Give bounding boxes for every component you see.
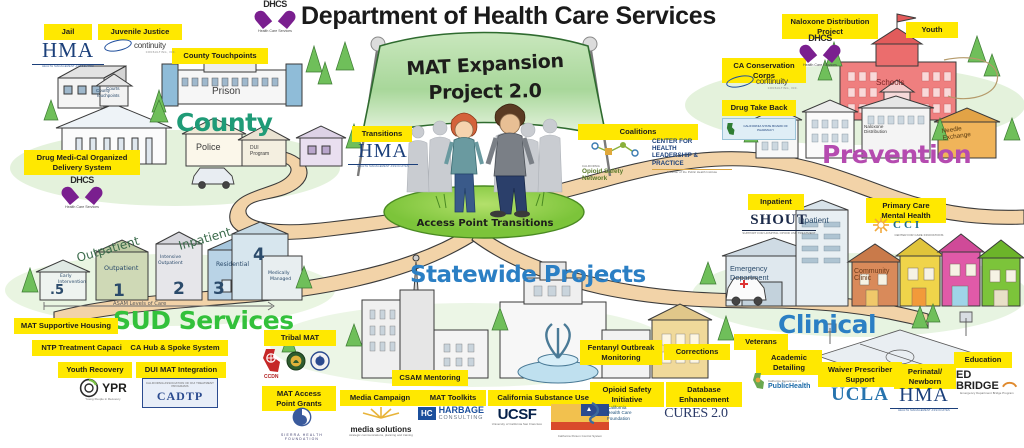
logo-tribal-mat-group: CCDN (262, 348, 348, 380)
ccdn-wordmark: CCDN (264, 374, 348, 380)
section-title-statewide-projects: Statewide Projects (410, 262, 646, 288)
ypr-wordmark: YPR (102, 381, 127, 395)
logo-sierra-health-foundation: SIERRA HEALTH FOUNDATION (262, 406, 342, 441)
label-ca-hub-spoke-system[interactable]: CA Hub & Spoke System (122, 340, 228, 356)
poison-control-wordmark: California Poison Control System (548, 435, 612, 438)
dhcs-wordmark-2: DHCS (62, 176, 102, 185)
logo-cdph: California Department of PublicHealth (752, 372, 834, 390)
edbridge-subtext: Emergency Department Bridge Program (956, 392, 1018, 395)
cdph-wordmark: PublicHealth (768, 383, 810, 390)
svg-text:.5: .5 (50, 283, 64, 298)
cci-sunburst-icon (872, 216, 890, 234)
logo-dhcs-naloxone: DHCS Health Care Services (800, 34, 840, 68)
shout-subtext: SUPPORT FOR HOSPITAL OPIOID USE TREATMEN… (742, 232, 816, 235)
logo-ucsf: UCSF University of California San Franci… (488, 406, 546, 426)
dhcs-heart-icon-3 (808, 43, 832, 63)
california-shape-icon (726, 121, 736, 137)
logo-hma-jail: HMA HEALTH MANAGEMENT ASSOCIATES (32, 38, 104, 68)
tribal-seal-icon-1 (286, 351, 306, 371)
label-inpatient[interactable]: Inpatient (748, 194, 804, 210)
logo-ypr: YPR Young People in Recovery (66, 378, 140, 401)
harbage-hc-mark: HC (418, 407, 436, 420)
tribal-seal-icon-2 (310, 351, 330, 371)
building-caption-prison: Prison (212, 86, 240, 97)
osn-network-icon (589, 140, 641, 160)
svg-text:Residential: Residential (216, 261, 249, 268)
sierra-swirl-icon (291, 406, 313, 428)
hma-wordmark-3: HMA (890, 384, 958, 407)
logo-ca-board-of-pharmacy: CALIFORNIA STATE BOARD OF PHARMACY (722, 118, 796, 140)
label-fentanyl-outbreak-monitoring[interactable]: Fentanyl Outbreak Monitoring (580, 340, 662, 365)
cures-wordmark: CURES 2.0 (660, 406, 732, 422)
dhcs-logo-subtext: Health Care Services (255, 29, 295, 34)
svg-text:Outpatient: Outpatient (104, 264, 139, 272)
svg-text:Medically: Medically (268, 270, 290, 276)
ccdn-california-icon (262, 348, 282, 374)
cci-subtext: CENTER FOR CARE INNOVATIONS (892, 234, 946, 237)
sierra-subtext: FOUNDATION (262, 437, 342, 441)
continuity-subtext-2: CONSULTING, INC. (754, 87, 812, 90)
label-corrections[interactable]: Corrections (664, 344, 730, 360)
project-banner: MAT Expansion Project 2.0 (392, 54, 578, 103)
svg-text:Intensive: Intensive (160, 254, 181, 260)
chlp-wordmark: CENTER FOR HEALTH LEADERSHIP & PRACTICE (652, 138, 732, 167)
svg-text:3: 3 (213, 279, 225, 299)
pharmacy-wordmark: CALIFORNIA STATE BOARD OF PHARMACY (739, 125, 792, 132)
svg-text:Intervention: Intervention (58, 279, 86, 285)
label-education[interactable]: Education (954, 352, 1012, 368)
logo-cci: CCI CENTER FOR CARE INNOVATIONS (872, 216, 946, 237)
edbridge-arc-icon (1001, 373, 1018, 389)
infographic-canvas: .5 1 2 3 4 EarlyIntervention Outpatient … (0, 0, 1024, 448)
ypr-circle-icon (79, 378, 99, 398)
logo-dhcs-drug-medi-cal: DHCS Health Care Services (62, 176, 102, 210)
logo-cadtp: CALIFORNIA ASSOCIATION OF DUI TREATMENT … (142, 378, 218, 408)
building-caption-emergency-department: Emergency Department (730, 264, 769, 282)
dhcs-heart-icon (263, 9, 287, 29)
logo-hma-transitions: HMA HEALTH MANAGEMENT ASSOCIATES (348, 140, 418, 168)
media-solutions-subtext: strategic communications, planning and t… (338, 434, 424, 437)
harbage-wordmark: HARBAGE (439, 406, 485, 415)
cdph-bear-icon (752, 372, 766, 390)
logo-cures: CURES 2.0 (660, 406, 732, 422)
page-title: Department of Health Care Services (301, 2, 716, 31)
hma-subtext-2: HEALTH MANAGEMENT ASSOCIATES (348, 165, 418, 168)
continuity-ellipse-icon-2 (725, 73, 755, 90)
label-csam-mentoring[interactable]: CSAM Mentoring (392, 370, 468, 386)
logo-shout: SHOUT SUPPORT FOR HOSPITAL OPIOID USE TR… (742, 212, 816, 235)
dhcs-wordmark-3: DHCS (800, 34, 840, 43)
shout-wordmark: SHOUT (742, 212, 816, 229)
building-caption-community-clinic: Community Clinic (854, 268, 889, 282)
svg-text:2: 2 (173, 279, 185, 299)
continuity-ellipse-icon (103, 37, 133, 54)
osn-line2: Network (582, 175, 648, 182)
ucsf-wordmark: UCSF (488, 406, 546, 423)
dhcs-logo-icon: DHCS Health Care Services (255, 0, 295, 32)
label-tribal-mat[interactable]: Tribal MAT (264, 330, 336, 346)
cadtp-pretext: CALIFORNIA ASSOCIATION OF DUI TREATMENT … (145, 382, 215, 389)
svg-text:Managed: Managed (270, 276, 291, 282)
svg-text:Outpatient: Outpatient (158, 260, 183, 266)
section-title-clinical: Clinical (778, 310, 876, 339)
page-header: DHCS Health Care Services Department of … (0, 0, 1024, 34)
continuity-subtext: CONSULTING, INC. (132, 51, 190, 54)
ucsf-subtext: University of California San Francisco (488, 423, 546, 426)
svg-text:1: 1 (113, 281, 125, 301)
chcf-swoosh-icon (588, 402, 604, 424)
banner-title-line1: MAT Expansion (392, 49, 579, 81)
media-solutions-rays-icon (353, 406, 409, 420)
label-dui-mat-integration[interactable]: DUI MAT Integration (136, 362, 226, 378)
banner-title-line2: Project 2.0 (392, 79, 578, 104)
osn-line1: Opioid Safety (582, 168, 648, 175)
dhcs-heart-icon-2 (70, 185, 94, 205)
building-caption-courts: Courts (106, 86, 120, 91)
logo-ed-bridge: ED BRIDGE Emergency Department Bridge Pr… (956, 370, 1018, 395)
svg-text:4: 4 (253, 245, 265, 265)
building-caption-naloxone-distribution: Naloxone Distribution (864, 124, 887, 134)
logo-ucla: UCLA (824, 384, 896, 406)
logo-continuity-conservation: continuity CONSULTING, INC. (726, 76, 812, 90)
label-drug-medi-cal[interactable]: Drug Medi-Cal Organized Delivery System (24, 150, 140, 175)
cadtp-wordmark: CADTP (145, 389, 215, 404)
building-caption-schools: Schools (876, 78, 904, 87)
continuity-wordmark: continuity (134, 41, 166, 50)
logo-chcf: California Health Care Foundation (588, 402, 668, 424)
dhcs-logo-wordmark: DHCS (255, 0, 295, 9)
chlp-subtext: A Center of the Public Health Institute (652, 171, 732, 174)
hma-wordmark: HMA (32, 38, 104, 63)
ucla-wordmark: UCLA (824, 384, 896, 406)
ypr-subtext: Young People in Recovery (66, 398, 140, 401)
label-database-enhancement[interactable]: Database Enhancement (666, 382, 742, 407)
label-mat-supportive-housing[interactable]: MAT Supportive Housing (14, 318, 118, 334)
label-media-campaign[interactable]: Media Campaign (340, 390, 420, 406)
dhcs-subtext-2: Health Care Services (62, 205, 102, 210)
logo-hma-perinatal: HMA HEALTH MANAGEMENT ASSOCIATES (890, 384, 958, 412)
hma-subtext: HEALTH MANAGEMENT ASSOCIATES (32, 65, 104, 68)
logo-chlp: CENTER FOR HEALTH LEADERSHIP & PRACTICE … (652, 138, 732, 174)
label-drug-take-back[interactable]: Drug Take Back (722, 100, 796, 116)
cci-wordmark: CCI (893, 219, 922, 231)
label-mat-toolkits[interactable]: MAT Toolkits (420, 390, 486, 406)
logo-continuity-juvenile: continuity CONSULTING, INC. (104, 40, 190, 54)
hub-label: Access Point Transitions (410, 218, 560, 229)
label-youth-recovery[interactable]: Youth Recovery (58, 362, 132, 378)
section-title-prevention: Prevention (822, 140, 971, 169)
continuity-wordmark-2: continuity (756, 77, 788, 86)
logo-opioid-safety-network: CALIFORNIA Opioid Safety Network (582, 140, 648, 182)
label-veterans[interactable]: Veterans (734, 334, 788, 350)
chcf-wordmark: California Health Care Foundation (607, 405, 632, 421)
svg-text:Early: Early (60, 273, 72, 279)
harbage-subtext: CONSULTING (439, 415, 485, 421)
hma-wordmark-2: HMA (348, 140, 418, 163)
dhcs-subtext-3: Health Care Services (800, 63, 840, 68)
hma-subtext-3: HEALTH MANAGEMENT ASSOCIATES (890, 409, 958, 412)
building-caption-police: Police (196, 142, 221, 152)
building-caption-dui-program: DUI Program (250, 145, 269, 157)
section-title-county: County (176, 108, 272, 137)
logo-media-solutions: media solutions strategic communications… (338, 406, 424, 437)
